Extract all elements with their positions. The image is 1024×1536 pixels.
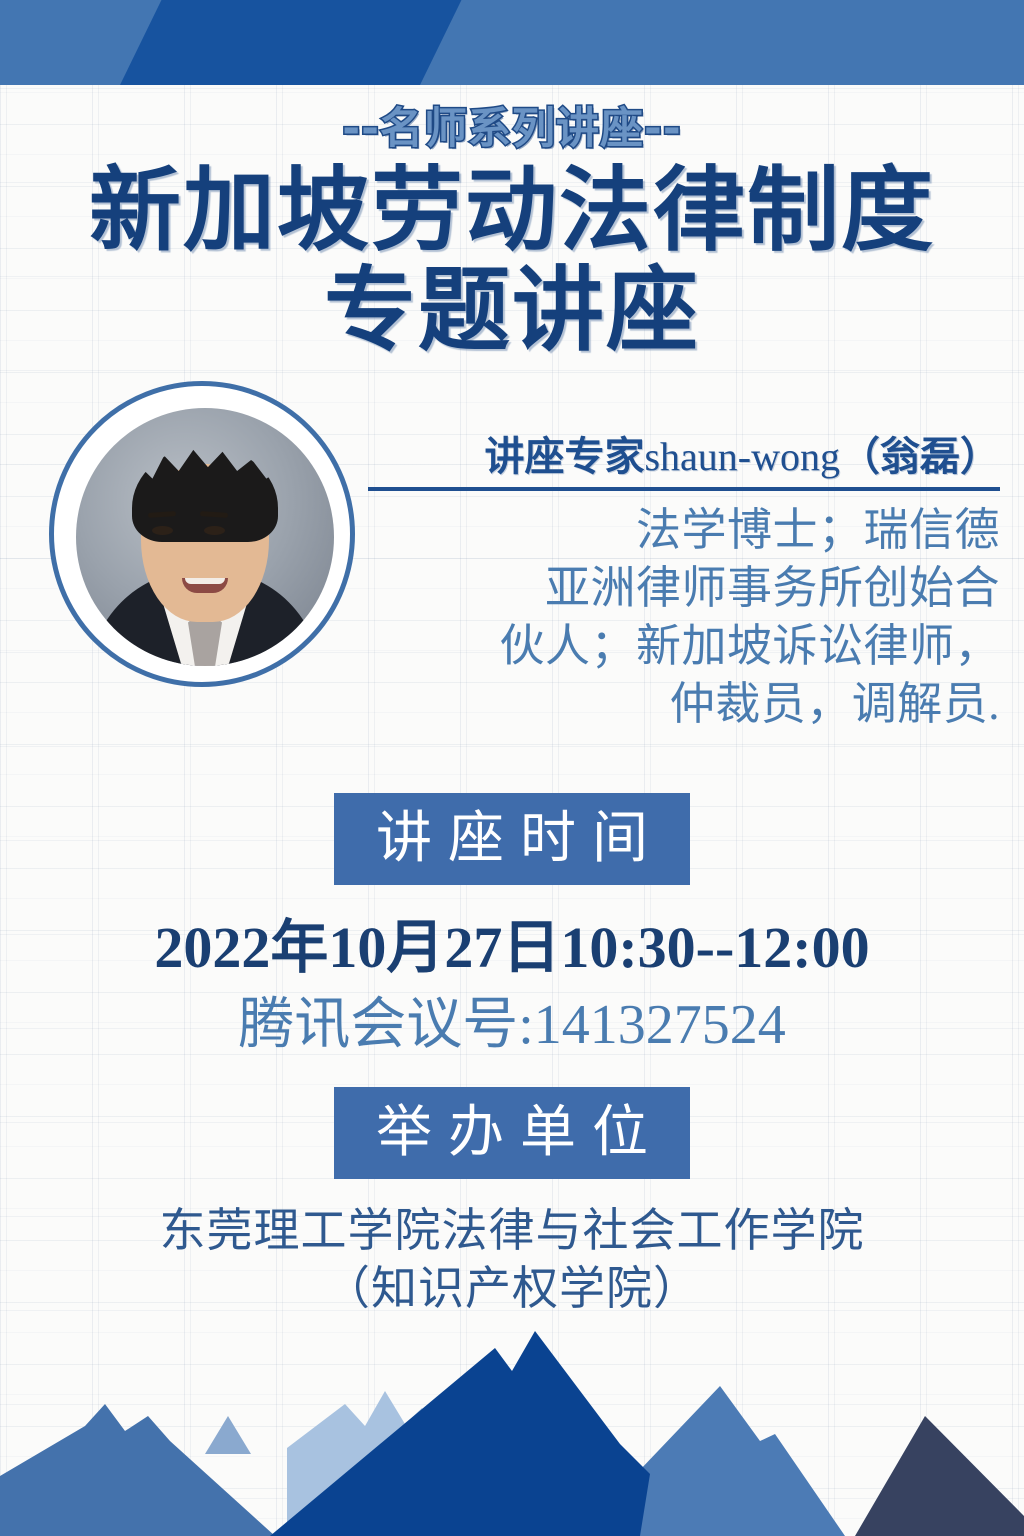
speaker-bio: 法学博士；瑞信德 亚洲律师事务所创始合 伙人；新加坡诉讼律师， 仲裁员，调解员. (368, 501, 1000, 733)
avatar (49, 381, 355, 687)
speaker-name-row: 讲座专家shaun-wong（翁磊） (368, 432, 1000, 491)
speaker-block: 讲座专家shaun-wong（翁磊） 法学博士；瑞信德 亚洲律师事务所创始合 伙… (368, 432, 1000, 733)
speaker-cn-name: （翁磊） (840, 433, 1000, 480)
portrait-eye-left (152, 526, 173, 535)
speaker-latin-name: shaun-wong (644, 434, 840, 479)
section-heading-organizer: 举办单位 (334, 1087, 690, 1179)
title-line-2: 专题讲座 (0, 260, 1024, 360)
poster-content: --名师系列讲座-- 新加坡劳动法律制度 专题讲座 (0, 0, 1024, 1536)
speaker-label: 讲座专家 (484, 433, 644, 480)
speaker-bio-line-3: 伙人；新加坡诉讼律师， (368, 617, 1000, 675)
speaker-bio-line-4: 仲裁员，调解员. (368, 675, 1000, 733)
lecture-datetime: 2022年10月27日10:30--12:00 (0, 915, 1024, 981)
organizer-line-1: 东莞理工学院法律与社会工作学院 (0, 1202, 1024, 1260)
speaker-bio-line-2: 亚洲律师事务所创始合 (368, 559, 1000, 617)
organizer-line-2: （知识产权学院） (0, 1260, 1024, 1318)
poster-canvas: --名师系列讲座-- 新加坡劳动法律制度 专题讲座 (0, 0, 1024, 1536)
organizer-name: 东莞理工学院法律与社会工作学院 （知识产权学院） (0, 1202, 1024, 1318)
avatar-photo (76, 408, 334, 666)
speaker-bio-line-1: 法学博士；瑞信德 (368, 501, 1000, 559)
title-line-1: 新加坡劳动法律制度 (89, 156, 935, 264)
meeting-number: 腾讯会议号:141327524 (0, 993, 1024, 1057)
page-title: 新加坡劳动法律制度 专题讲座 (0, 160, 1024, 360)
portrait-eye-right (204, 526, 225, 535)
portrait-teeth-shape (185, 578, 225, 584)
section-heading-time: 讲座时间 (334, 793, 690, 885)
eyebrow-text: --名师系列讲座-- (0, 103, 1024, 155)
